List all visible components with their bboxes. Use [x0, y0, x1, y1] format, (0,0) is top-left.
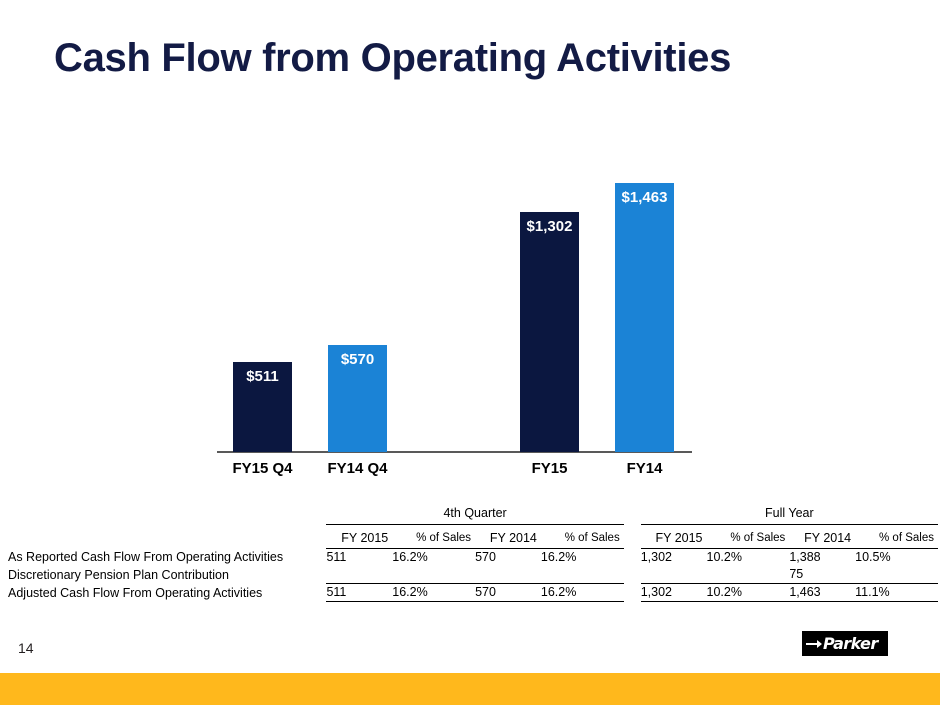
group-header-4th-quarter: 4th Quarter [326, 505, 623, 525]
footer-accent-bar [0, 673, 940, 705]
col-header-fy-fy2015-pct: % of Sales [707, 530, 790, 549]
bar-value-label: $1,463 [615, 189, 674, 206]
col-header-q4-fy2014: FY 2014 [475, 530, 541, 549]
bar-value-label: $570 [328, 351, 387, 368]
parker-arrow-icon [806, 637, 822, 651]
cell-fy-fy2015: 1,302 [641, 549, 707, 567]
cell-q4-fy2014-pct: 16.2% [541, 549, 624, 567]
spacer-cell [624, 584, 641, 602]
cell-q4-fy2014 [475, 566, 541, 584]
table-group-header-row: 4th Quarter Full Year [8, 505, 938, 525]
col-header-fy-fy2014-pct: % of Sales [855, 530, 938, 549]
cell-q4-fy2015: 511 [326, 584, 392, 602]
cell-q4-fy2015: 511 [326, 549, 392, 567]
bar-value-label: $511 [233, 368, 292, 385]
x-axis-label-fy14-q4: FY14 Q4 [298, 460, 418, 477]
row-label-pension-contribution: Discretionary Pension Plan Contribution [8, 566, 326, 584]
cell-q4-fy2014: 570 [475, 549, 541, 567]
cell-fy-fy2015-pct: 10.2% [707, 549, 790, 567]
cell-fy-fy2014-pct: 11.1% [855, 584, 938, 602]
bar-fy14[interactable]: $1,463 [615, 183, 674, 452]
spacer-cell [8, 530, 326, 549]
cell-fy-fy2015-pct: 10.2% [707, 584, 790, 602]
page-title: Cash Flow from Operating Activities [54, 36, 731, 81]
cell-q4-fy2014: 570 [475, 584, 541, 602]
financial-summary-table: 4th Quarter Full Year FY 2015 % of Sales… [0, 505, 940, 602]
spacer-cell [624, 530, 641, 549]
parker-logo: Parker [802, 631, 888, 656]
spacer-cell [624, 549, 641, 567]
bar-fy14-q4[interactable]: $570 [328, 345, 387, 452]
table-column-header-row: FY 2015 % of Sales FY 2014 % of Sales FY… [8, 530, 938, 549]
bar-fy15[interactable]: $1,302 [520, 212, 579, 452]
cell-fy-fy2014: 75 [789, 566, 855, 584]
col-header-q4-fy2015-pct: % of Sales [392, 530, 475, 549]
cell-fy-fy2014: 1,388 [789, 549, 855, 567]
cell-fy-fy2015: 1,302 [641, 584, 707, 602]
page-number: 14 [18, 640, 34, 656]
cell-fy-fy2015 [641, 566, 707, 584]
row-label-adjusted: Adjusted Cash Flow From Operating Activi… [8, 584, 326, 602]
cell-q4-fy2014-pct [541, 566, 624, 584]
row-label-as-reported: As Reported Cash Flow From Operating Act… [8, 549, 326, 567]
x-axis-label-fy14: FY14 [585, 460, 705, 477]
bar-fy15-q4[interactable]: $511 [233, 362, 292, 452]
cell-q4-fy2015-pct [392, 566, 475, 584]
table-row: Discretionary Pension Plan Contribution … [8, 566, 938, 584]
col-header-q4-fy2015: FY 2015 [326, 530, 392, 549]
parker-wordmark: Parker [823, 634, 878, 653]
cell-q4-fy2015-pct: 16.2% [392, 584, 475, 602]
bar-chart [0, 150, 940, 495]
spacer-cell [8, 505, 326, 525]
col-header-fy-fy2014: FY 2014 [789, 530, 855, 549]
cell-q4-fy2014-pct: 16.2% [541, 584, 624, 602]
col-header-fy-fy2015: FY 2015 [641, 530, 707, 549]
group-header-full-year: Full Year [641, 505, 938, 525]
table-total-row: Adjusted Cash Flow From Operating Activi… [8, 584, 938, 602]
cell-fy-fy2014: 1,463 [789, 584, 855, 602]
cell-fy-fy2015-pct [707, 566, 790, 584]
cell-q4-fy2015 [326, 566, 392, 584]
table-row: As Reported Cash Flow From Operating Act… [8, 549, 938, 567]
cell-fy-fy2014-pct [855, 566, 938, 584]
col-header-q4-fy2014-pct: % of Sales [541, 530, 624, 549]
bar-value-label: $1,302 [520, 218, 579, 235]
spacer-cell [624, 566, 641, 584]
cell-fy-fy2014-pct: 10.5% [855, 549, 938, 567]
spacer-cell [624, 505, 641, 525]
cell-q4-fy2015-pct: 16.2% [392, 549, 475, 567]
